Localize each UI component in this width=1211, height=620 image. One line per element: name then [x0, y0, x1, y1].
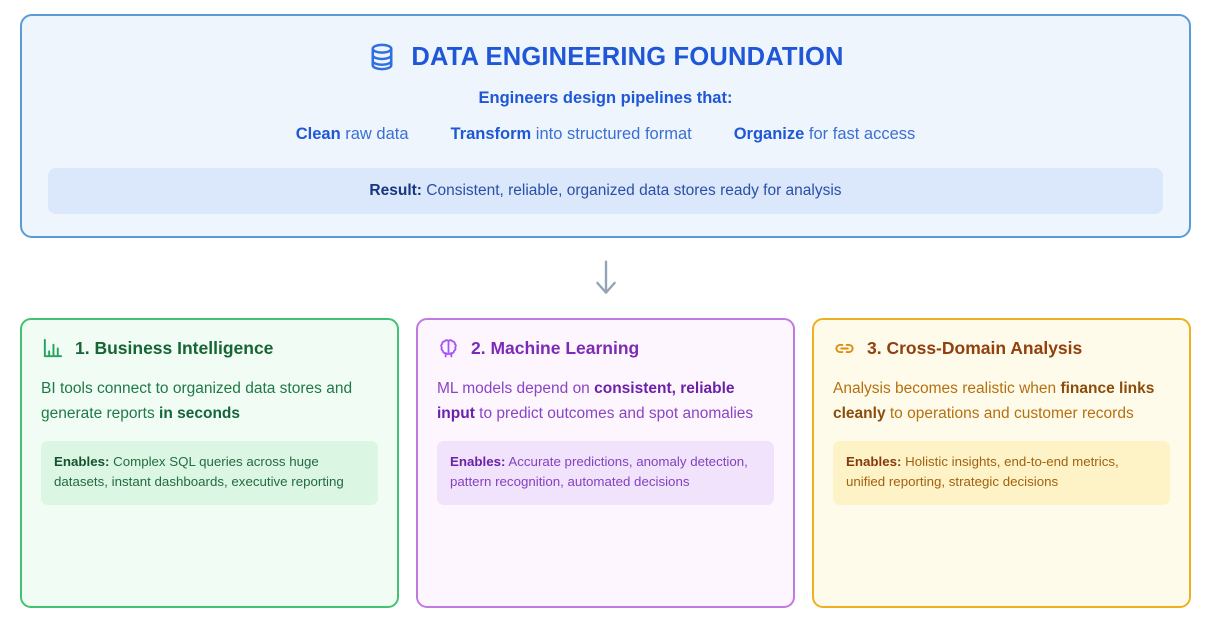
card-description-part-2: to predict outcomes and spot anomalies [475, 405, 753, 422]
card-description-part: ML models depend on [437, 380, 594, 397]
card-header: 3. Cross-Domain Analysis [833, 337, 1170, 360]
database-icon [367, 42, 397, 72]
flow-connector [20, 238, 1191, 318]
pipeline-step-clean-rest: raw data [341, 125, 409, 143]
card-header: 1. Business Intelligence [41, 337, 378, 360]
card-header: 2. Machine Learning [437, 337, 774, 360]
infographic-page: DATA ENGINEERING FOUNDATION Engineers de… [0, 0, 1211, 620]
foundation-result-bar: Result: Consistent, reliable, organized … [48, 168, 1163, 214]
card-description: Analysis becomes realistic when finance … [833, 376, 1170, 426]
card-description-highlight: in seconds [159, 405, 240, 422]
data-engineering-foundation-panel: DATA ENGINEERING FOUNDATION Engineers de… [20, 14, 1191, 238]
bar-chart-icon [41, 337, 64, 360]
card-description: BI tools connect to organized data store… [41, 376, 378, 426]
enables-label: Enables: [846, 454, 901, 469]
brain-icon [437, 337, 460, 360]
card-machine-learning[interactable]: 2. Machine Learning ML models depend on … [416, 318, 795, 608]
pipeline-step-transform-strong: Transform [451, 125, 532, 143]
pipeline-step-organize-rest: for fast access [804, 125, 915, 143]
foundation-title-row: DATA ENGINEERING FOUNDATION [367, 42, 843, 72]
pipeline-step-transform: Transform into structured format [451, 125, 692, 144]
pipeline-step-clean-strong: Clean [296, 125, 341, 143]
pipeline-step-transform-rest: into structured format [531, 125, 691, 143]
pipeline-step-clean: Clean raw data [296, 125, 409, 144]
result-text: Consistent, reliable, organized data sto… [422, 182, 842, 199]
card-description: ML models depend on consistent, reliable… [437, 376, 774, 426]
enables-label: Enables: [54, 454, 109, 469]
pipeline-step-organize: Organize for fast access [734, 125, 916, 144]
card-description-part-2: to operations and customer records [886, 405, 1134, 422]
enables-label: Enables: [450, 454, 505, 469]
pipeline-steps-list: Clean raw data Transform into structured… [296, 125, 916, 144]
card-title: 2. Machine Learning [471, 338, 639, 359]
outcome-cards-row: 1. Business Intelligence BI tools connec… [20, 318, 1191, 608]
enables-box: Enables: Accurate predictions, anomaly d… [437, 441, 774, 504]
card-title: 3. Cross-Domain Analysis [867, 338, 1082, 359]
card-title: 1. Business Intelligence [75, 338, 273, 359]
arrow-down-icon [593, 258, 619, 298]
pipeline-step-organize-strong: Organize [734, 125, 805, 143]
result-label: Result: [369, 182, 422, 199]
enables-box: Enables: Holistic insights, end-to-end m… [833, 441, 1170, 504]
card-cross-domain-analysis[interactable]: 3. Cross-Domain Analysis Analysis become… [812, 318, 1191, 608]
foundation-subtitle: Engineers design pipelines that: [479, 89, 733, 108]
card-business-intelligence[interactable]: 1. Business Intelligence BI tools connec… [20, 318, 399, 608]
enables-box: Enables: Complex SQL queries across huge… [41, 441, 378, 504]
page-title: DATA ENGINEERING FOUNDATION [411, 43, 843, 72]
card-description-part: Analysis becomes realistic when [833, 380, 1060, 397]
link-icon [833, 337, 856, 360]
